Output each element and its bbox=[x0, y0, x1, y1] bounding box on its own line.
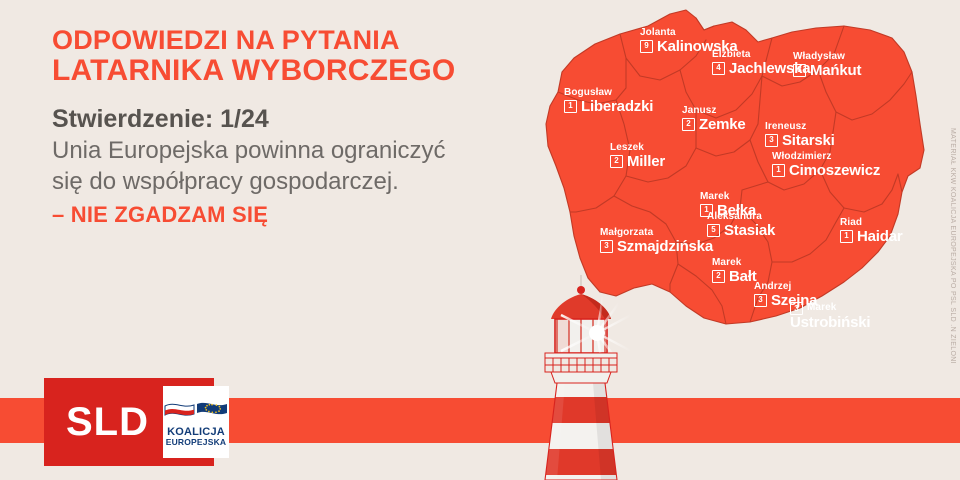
candidate-last-name: Mańkut bbox=[810, 63, 861, 79]
candidate-first-name: Andrzej bbox=[754, 282, 817, 293]
candidate-label: Janusz 2Zemke bbox=[682, 106, 746, 132]
europejska-label: EUROPEJSKA bbox=[166, 438, 227, 447]
statement-body-line-2: się do współpracy gospodarczej. bbox=[52, 167, 492, 196]
candidate-first-name: Leszek bbox=[610, 143, 665, 154]
koalicja-europejska-logo: KOALICJA EUROPEJSKA bbox=[163, 386, 229, 458]
list-number-badge: 3 bbox=[793, 64, 806, 77]
statement-answer: – NIE ZGADZAM SIĘ bbox=[52, 202, 492, 228]
statement-block: Stwierdzenie: 1/24 Unia Europejska powin… bbox=[52, 104, 492, 228]
candidate-label: Riad 1Haidar bbox=[840, 218, 903, 244]
candidate-last-name: Sitarski bbox=[782, 133, 835, 149]
candidate-first-name: Władysław bbox=[793, 52, 861, 63]
candidate-last-name: Liberadzki bbox=[581, 99, 653, 115]
list-number-badge: 2 bbox=[610, 155, 623, 168]
candidate-last-name: Zemke bbox=[699, 117, 746, 133]
sld-logo-block: SLD KOALICJA EUROPEJSKA bbox=[44, 378, 214, 466]
lighthouse-illustration bbox=[527, 275, 635, 480]
candidate-first-name: Jolanta bbox=[640, 28, 738, 39]
list-number-badge: 2 bbox=[712, 270, 725, 283]
candidate-last-name: Szmajdzińska bbox=[617, 239, 713, 255]
list-number-badge: 3 bbox=[600, 240, 613, 253]
candidate-label: Marek 2Bałt bbox=[712, 258, 757, 284]
candidate-first-name: Włodzimierz bbox=[772, 152, 880, 163]
candidate-last-name: Miller bbox=[627, 154, 665, 170]
candidate-first-name: Bogusław bbox=[564, 88, 653, 99]
headline: ODPOWIEDZI NA PYTANIA LATARNIKA WYBORCZE… bbox=[52, 26, 522, 86]
candidate-first-name: Marek bbox=[700, 192, 756, 203]
poster-canvas: ODPOWIEDZI NA PYTANIA LATARNIKA WYBORCZE… bbox=[0, 0, 960, 480]
candidate-last-name: Ustrobiński bbox=[790, 315, 870, 331]
candidate-label: Władysław 3Mańkut bbox=[793, 52, 861, 78]
candidate-first-name: Marek bbox=[712, 258, 757, 269]
sld-wordmark: SLD bbox=[50, 400, 149, 445]
candidate-label: Ireneusz 3Sitarski bbox=[765, 122, 835, 148]
headline-line-2: LATARNIKA WYBORCZEGO bbox=[52, 55, 522, 87]
candidate-label: Leszek 2Miller bbox=[610, 143, 665, 169]
list-number-badge: 1 bbox=[840, 230, 853, 243]
list-number-badge: 2 bbox=[682, 118, 695, 131]
list-number-badge: 1 bbox=[564, 100, 577, 113]
statement-title: Stwierdzenie: 1/24 bbox=[52, 104, 492, 134]
candidate-last-name: Stasiak bbox=[724, 223, 775, 239]
candidate-first-name: Aleksandra bbox=[707, 212, 775, 223]
candidate-label: Włodzimierz 1Cimoszewicz bbox=[772, 152, 880, 178]
list-number-badge: 3 bbox=[765, 134, 778, 147]
candidate-label: Aleksandra 5Stasiak bbox=[707, 212, 775, 238]
list-number-badge: 9 bbox=[640, 40, 653, 53]
flag-eu-icon bbox=[163, 398, 229, 424]
list-number-badge: 1 bbox=[772, 164, 785, 177]
candidate-label: Bogusław 1Liberadzki bbox=[564, 88, 653, 114]
candidate-first-name: Ireneusz bbox=[765, 122, 835, 133]
candidate-first-name: Marek bbox=[807, 303, 836, 314]
candidate-first-name: Janusz bbox=[682, 106, 746, 117]
statement-body-line-1: Unia Europejska powinna ograniczyć bbox=[52, 136, 492, 165]
list-number-badge: 3 bbox=[754, 294, 767, 307]
candidate-first-name: Riad bbox=[840, 218, 903, 229]
candidate-last-name: Bałt bbox=[729, 269, 757, 285]
candidate-label: Małgorzata 3Szmajdzińska bbox=[600, 228, 713, 254]
candidate-last-name: Cimoszewicz bbox=[789, 163, 880, 179]
headline-line-1: ODPOWIEDZI NA PYTANIA bbox=[52, 26, 522, 55]
candidate-last-name: Haidar bbox=[857, 229, 903, 245]
candidate-first-name: Małgorzata bbox=[600, 228, 713, 239]
list-number-badge: 4 bbox=[712, 62, 725, 75]
candidate-label: 3Marek Ustrobiński bbox=[790, 302, 870, 331]
